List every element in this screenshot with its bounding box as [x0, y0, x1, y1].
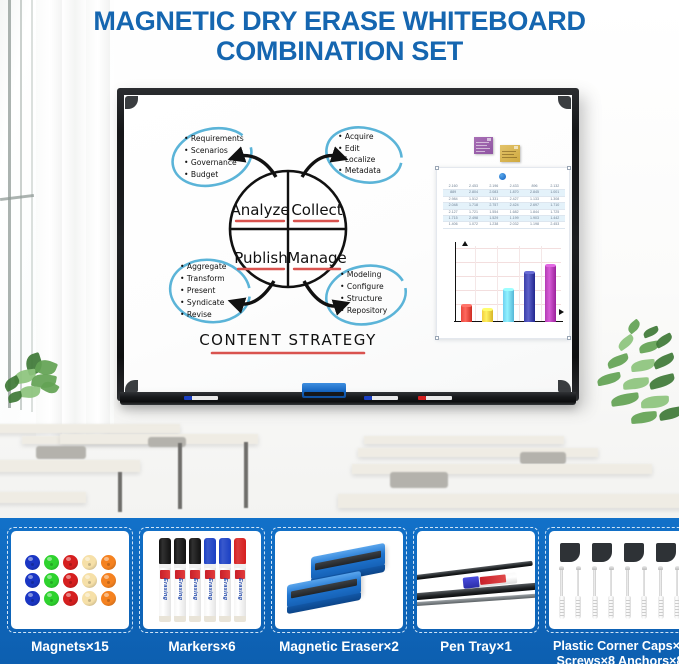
bar — [545, 266, 556, 322]
svg-text:• Configure: • Configure — [340, 282, 384, 291]
desk — [0, 492, 86, 503]
svg-text:• Governance: • Governance — [184, 158, 237, 167]
tray-marker-blue — [184, 396, 218, 400]
yellow-sticky-note — [500, 145, 520, 162]
magnet — [82, 555, 97, 570]
accessory-label-line-2: Screws×8 Anchors×8 — [557, 654, 679, 669]
marker: Erasing — [159, 538, 171, 622]
screw — [559, 566, 564, 596]
screw — [576, 566, 581, 596]
magnet — [25, 573, 40, 588]
svg-text:• Acquire: • Acquire — [338, 132, 374, 141]
accessories-strip: Magnets×15 ErasingErasingErasingErasingE… — [0, 518, 679, 664]
eraser-illustration — [285, 544, 393, 616]
magnet — [101, 573, 116, 588]
marker: Erasing — [234, 538, 246, 622]
accessory-label: Markers×6 — [168, 639, 235, 654]
resize-handle[interactable] — [435, 166, 439, 170]
magnet-grid — [21, 551, 120, 610]
pen-tray — [120, 392, 576, 405]
svg-text:• Metadata: • Metadata — [338, 166, 381, 175]
marker: Erasing — [219, 538, 231, 622]
svg-text:• Aggregate: • Aggregate — [180, 262, 227, 271]
anchor — [674, 596, 679, 619]
bar — [524, 273, 535, 322]
magnet — [82, 573, 97, 588]
svg-text:• Modeling: • Modeling — [340, 270, 382, 279]
plastic-corner-cap — [560, 543, 580, 562]
chair — [390, 472, 448, 488]
magnet — [25, 591, 40, 606]
table-cell: 1.072 — [463, 222, 483, 228]
desk — [338, 494, 679, 508]
svg-text:• Localize: • Localize — [338, 155, 376, 164]
data-table: 2.1602.4532.1962.4338962.1328892.8042.08… — [443, 184, 565, 229]
plastic-corner-cap — [656, 543, 676, 562]
tray-eraser — [302, 383, 346, 398]
accessory-box — [545, 527, 679, 633]
corner-cap-icon — [125, 96, 138, 109]
screw — [609, 566, 614, 596]
svg-text:• Transform: • Transform — [180, 274, 225, 283]
accessory-pen-tray: Pen Tray×1 — [413, 527, 539, 654]
anchor — [592, 596, 598, 619]
bar — [503, 290, 514, 322]
screw — [658, 566, 663, 596]
table-cell: 1.238 — [484, 222, 504, 228]
resize-handle[interactable] — [567, 336, 571, 340]
potted-plant-left — [2, 352, 76, 418]
whiteboard: Analyze Collect Publish Manage — [117, 88, 579, 401]
y-axis — [455, 242, 456, 322]
pen-tray-illustration — [417, 544, 535, 616]
whiteboard-surface: Analyze Collect Publish Manage — [124, 95, 572, 394]
anchor — [641, 596, 647, 619]
content-strategy-diagram: Analyze Collect Publish Manage — [168, 123, 408, 363]
svg-text:• Structure: • Structure — [340, 294, 383, 303]
screw — [625, 566, 630, 596]
accessory-box — [413, 527, 539, 633]
magnet — [101, 591, 116, 606]
corner-cap-icon — [558, 96, 571, 109]
plastic-corner-cap — [592, 543, 612, 562]
svg-text:• Syndicate: • Syndicate — [180, 298, 225, 307]
chair — [36, 446, 86, 459]
svg-text:• Budget: • Budget — [184, 170, 218, 179]
quadrant-label-analyze: Analyze — [230, 201, 289, 219]
table-cell: 2.032 — [504, 222, 524, 228]
svg-text:• Requirements: • Requirements — [184, 134, 244, 143]
projected-slide: 2.1602.4532.1962.4338962.1328892.8042.08… — [436, 167, 570, 339]
bubble-text-top-left: • Requirements • Scenarios • Governance … — [184, 134, 244, 179]
magnet — [44, 573, 59, 588]
magnet — [63, 591, 78, 606]
marker-row: ErasingErasingErasingErasingErasingErasi… — [157, 534, 248, 626]
bubble-text-bottom-left: • Aggregate • Transform • Present • Synd… — [180, 262, 227, 319]
desk — [364, 436, 564, 444]
screw — [592, 566, 597, 596]
resize-handle[interactable] — [567, 166, 571, 170]
accessory-label: Magnets×15 — [31, 639, 109, 654]
magnet — [63, 573, 78, 588]
anchor — [658, 596, 664, 619]
accessory-box — [271, 527, 407, 633]
marker: Erasing — [189, 538, 201, 622]
svg-text:• Edit: • Edit — [338, 144, 360, 153]
desk-leg — [178, 443, 182, 509]
anchor — [575, 596, 581, 619]
magnet — [101, 555, 116, 570]
quadrant-label-manage: Manage — [287, 249, 347, 267]
accessory-label: Pen Tray×1 — [440, 639, 512, 654]
anchor — [625, 596, 631, 619]
hardware-illustration — [552, 540, 679, 620]
bar — [482, 310, 493, 322]
title-line-1: MAGNETIC DRY ERASE WHITEBOARD — [0, 6, 679, 36]
magnet — [44, 591, 59, 606]
desk-leg — [118, 472, 122, 512]
plastic-corner-cap — [624, 543, 644, 562]
quadrant-label-publish: Publish — [234, 249, 287, 267]
table-row: 1.4061.0721.2382.0321.1982.453 — [443, 222, 565, 228]
tray-marker-red — [418, 396, 452, 400]
table-cell: 1.198 — [524, 222, 544, 228]
accessory-hardware: Plastic Corner Caps×4 Screws×8 Anchors×8 — [545, 527, 679, 669]
magnet — [63, 555, 78, 570]
accessory-eraser: Magnetic Eraser×2 — [271, 527, 407, 654]
desk — [0, 460, 140, 472]
marker: Erasing — [204, 538, 216, 622]
resize-handle[interactable] — [435, 336, 439, 340]
accessory-label: Magnetic Eraser×2 — [279, 639, 399, 654]
accessory-box: ErasingErasingErasingErasingErasingErasi… — [139, 527, 265, 633]
bar-chart — [445, 240, 565, 332]
desk-leg — [244, 442, 248, 508]
table-cell: 2.453 — [545, 222, 565, 228]
leafy-plant-right — [587, 320, 679, 432]
bubble-text-bottom-right: • Modeling • Configure • Structure • Rep… — [340, 270, 388, 315]
tray-marker-blue — [364, 396, 398, 400]
marker: Erasing — [174, 538, 186, 622]
chair — [520, 452, 566, 464]
desk — [0, 424, 180, 433]
page-title: MAGNETIC DRY ERASE WHITEBOARD COMBINATIO… — [0, 0, 679, 72]
accessory-box — [7, 527, 133, 633]
arrow-to-bottom-right — [304, 281, 342, 306]
bar — [461, 306, 472, 322]
svg-text:• Repository: • Repository — [340, 306, 388, 315]
magnet — [82, 591, 97, 606]
purple-sticky-note — [474, 137, 493, 154]
anchor — [559, 596, 565, 619]
diagram-heading: CONTENT STRATEGY — [199, 331, 377, 349]
screw — [642, 566, 647, 596]
title-line-2: COMBINATION SET — [0, 36, 679, 66]
magnet — [44, 555, 59, 570]
accessory-magnets: Magnets×15 — [7, 527, 133, 654]
rotation-handle-icon[interactable] — [499, 173, 506, 180]
accessory-label-line-1: Plastic Corner Caps×4 — [553, 639, 679, 654]
screw — [675, 566, 679, 596]
svg-text:• Revise: • Revise — [180, 310, 212, 319]
quadrant-label-collect: Collect — [291, 201, 342, 219]
bubble-text-top-right: • Acquire • Edit • Localize • Metadata — [338, 132, 381, 175]
anchor — [608, 596, 614, 619]
table-cell: 1.406 — [443, 222, 463, 228]
svg-text:• Present: • Present — [180, 286, 215, 295]
magnet — [25, 555, 40, 570]
accessory-markers: ErasingErasingErasingErasingErasingErasi… — [139, 527, 265, 654]
svg-text:• Scenarios: • Scenarios — [184, 146, 228, 155]
